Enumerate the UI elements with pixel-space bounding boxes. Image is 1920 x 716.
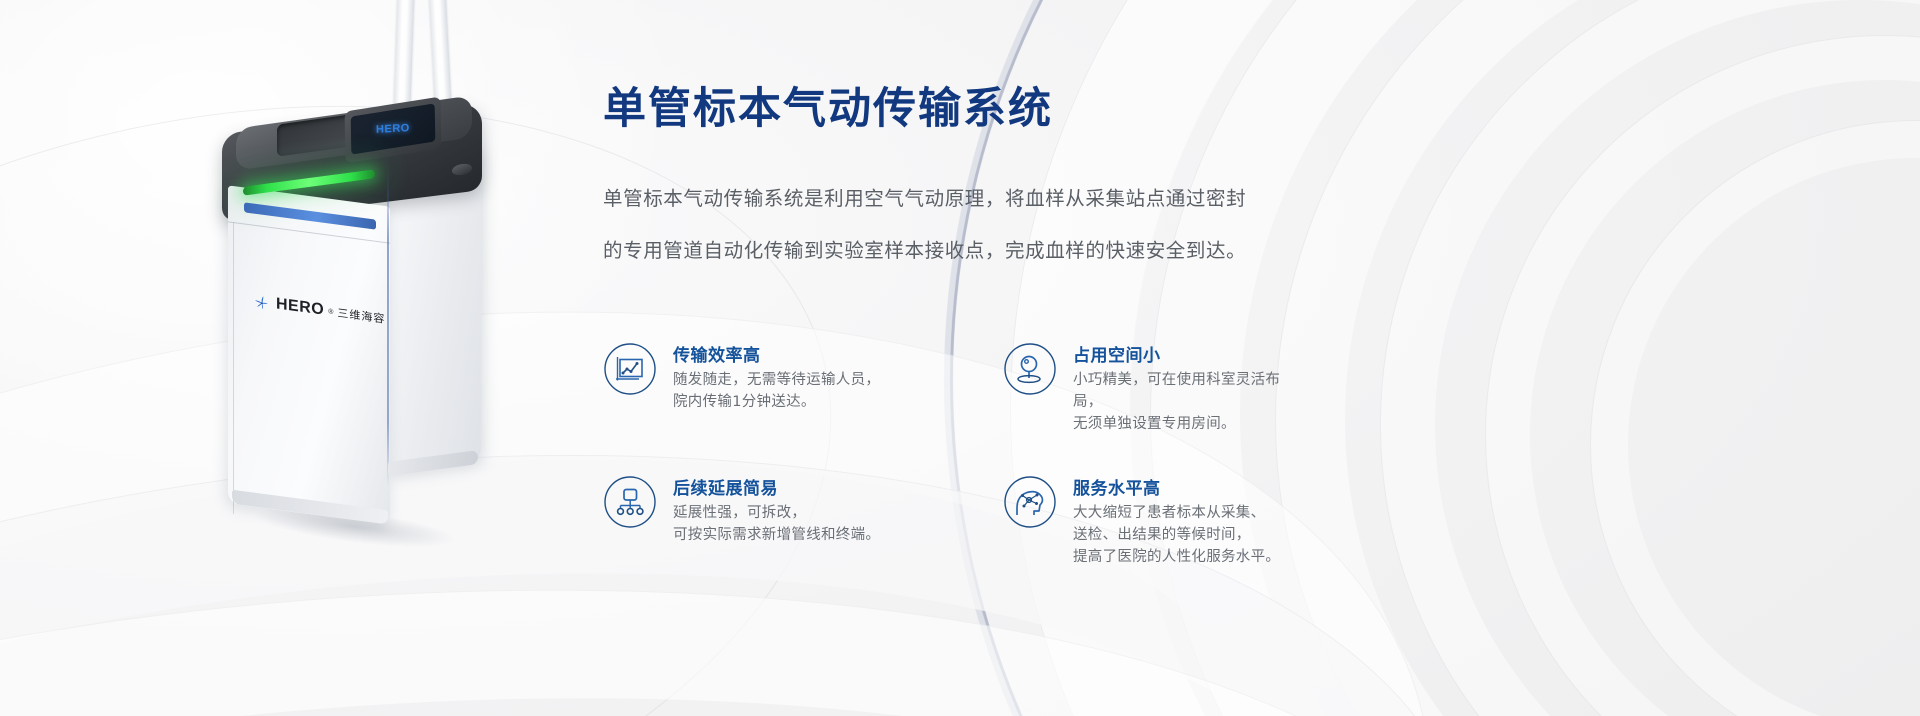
- hero-butterfly-icon: [252, 291, 272, 314]
- smart-head-icon: [1003, 475, 1057, 529]
- line-chart-icon: [603, 342, 657, 396]
- product-front-panel: [228, 185, 390, 524]
- product-image: HERO HERO ® 三维海容: [0, 0, 560, 716]
- feature-description: 小巧精美，可在使用科室灵活布局， 无须单独设置专用房间。: [1073, 369, 1283, 435]
- screen-logo-text: HERO: [376, 122, 410, 136]
- product-description: 单管标本气动传输系统是利用空气气动原理，将血样从采集站点通过密封的专用管道自动化…: [603, 173, 1263, 277]
- brand-registered-mark: ®: [328, 308, 333, 316]
- feature-description: 延展性强，可拆改， 可按实际需求新增管线和终端。: [673, 502, 880, 546]
- feature-item-transmission-efficiency: 传输效率高 随发随走，无需等待运输人员， 院内传输1分钟送达。: [603, 340, 1003, 435]
- feature-text: 占用空间小 小巧精美，可在使用科室灵活布局， 无须单独设置专用房间。: [1073, 340, 1283, 435]
- brand-chinese-text: 三维海容: [337, 304, 385, 326]
- panel-edge-highlight: [387, 168, 389, 486]
- feature-description: 大大缩短了患者标本从采集、 送检、出结果的等候时间， 提高了医院的人性化服务水平…: [1073, 502, 1280, 568]
- feature-description: 随发随走，无需等待运输人员， 院内传输1分钟送达。: [673, 369, 880, 413]
- banner-content: 单管标本气动传输系统 单管标本气动传输系统是利用空气气动原理，将血样从采集站点通…: [603, 0, 1703, 716]
- page-title: 单管标本气动传输系统: [603, 88, 1053, 131]
- feature-item-easy-expansion: 后续延展简易 延展性强，可拆改， 可按实际需求新增管线和终端。: [603, 473, 1003, 568]
- feature-item-small-footprint: 占用空间小 小巧精美，可在使用科室灵活布局， 无须单独设置专用房间。: [1003, 340, 1283, 435]
- product-banner: HERO HERO ® 三维海容 单管标本气动传输系统 单管标本: [0, 0, 1920, 716]
- feature-title: 占用空间小: [1073, 341, 1283, 366]
- network-tree-icon: [603, 475, 657, 529]
- feature-text: 后续延展简易 延展性强，可拆改， 可按实际需求新增管线和终端。: [673, 473, 880, 546]
- feature-title: 服务水平高: [1073, 474, 1280, 499]
- feature-title: 传输效率高: [673, 341, 880, 366]
- feature-grid: 传输效率高 随发随走，无需等待运输人员， 院内传输1分钟送达。 占用空间小: [603, 340, 1283, 568]
- panel-seam-vertical: [233, 222, 234, 514]
- feature-item-service-level: 服务水平高 大大缩短了患者标本从采集、 送检、出结果的等候时间， 提高了医院的人…: [1003, 473, 1283, 568]
- feature-text: 服务水平高 大大缩短了患者标本从采集、 送检、出结果的等候时间， 提高了医院的人…: [1073, 473, 1280, 568]
- feature-text: 传输效率高 随发随走，无需等待运输人员， 院内传输1分钟送达。: [673, 340, 880, 413]
- space-pin-icon: [1003, 342, 1057, 396]
- feature-title: 后续延展简易: [673, 474, 880, 499]
